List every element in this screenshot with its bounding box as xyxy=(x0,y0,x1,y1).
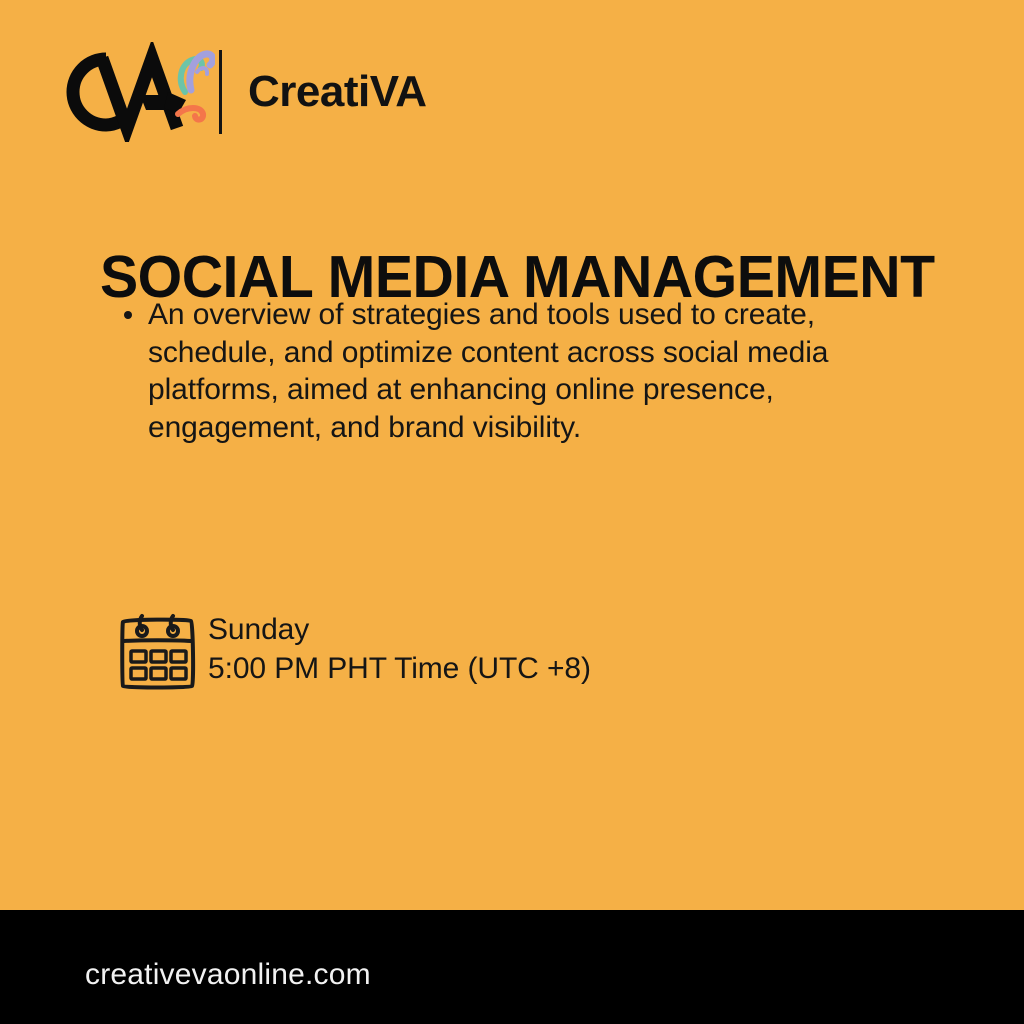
poster-canvas: CreatiVA SOCIAL MEDIA MANAGEMENT An over… xyxy=(0,0,1024,1024)
schedule-time: 5:00 PM PHT Time (UTC +8) xyxy=(208,649,591,688)
cva-monogram-brush-icon xyxy=(45,42,215,142)
schedule-day: Sunday xyxy=(208,610,591,649)
brand-lockup: CreatiVA xyxy=(45,42,427,142)
bullet-dot-icon xyxy=(124,311,132,319)
footer-website-url[interactable]: creativevaonline.com xyxy=(85,960,371,990)
list-item-text: An overview of strategies and tools used… xyxy=(148,298,828,444)
brand-name: CreatiVA xyxy=(248,70,427,114)
description-list: An overview of strategies and tools used… xyxy=(122,296,912,446)
footer-bar: creativevaonline.com xyxy=(0,910,1024,1024)
list-item: An overview of strategies and tools used… xyxy=(122,296,912,446)
schedule-block: Sunday 5:00 PM PHT Time (UTC +8) xyxy=(116,604,591,692)
schedule-text: Sunday 5:00 PM PHT Time (UTC +8) xyxy=(208,604,591,688)
brand-divider xyxy=(219,50,222,134)
calendar-icon xyxy=(116,606,200,692)
